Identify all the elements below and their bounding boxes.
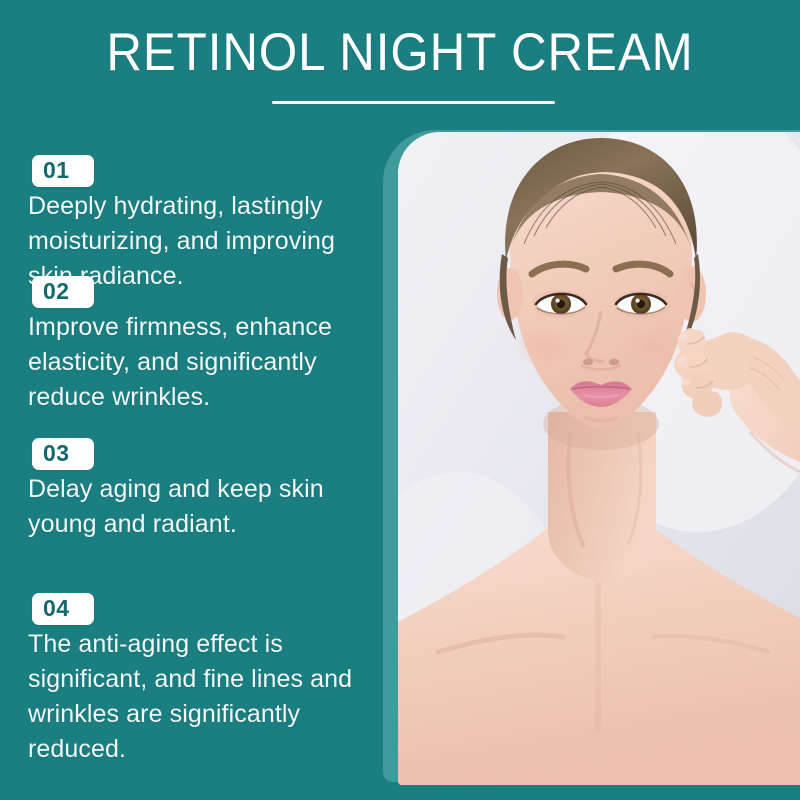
page-title: RETINOL NIGHT CREAM — [28, 23, 772, 83]
feature-text-02: Improve firmness, enhance elasticity, an… — [28, 310, 373, 415]
feature-text-04: The anti-aging effect is significant, an… — [28, 627, 373, 767]
feature-item-03: 03 Delay aging and keep skin young and r… — [28, 438, 373, 542]
feature-item-02: 02 Improve firmness, enhance elasticity,… — [28, 276, 373, 415]
product-poster: RETINOL NIGHT CREAM 01 Deeply hydrating,… — [0, 0, 800, 800]
feature-number-badge-01: 01 — [32, 155, 94, 187]
feature-number-badge-04: 04 — [32, 593, 94, 625]
feature-item-01: 01 Deeply hydrating, lastingly moisturiz… — [28, 155, 373, 294]
feature-number-badge-03: 03 — [32, 438, 94, 470]
title-divider — [272, 101, 555, 104]
feature-item-04: 04 The anti-aging effect is significant,… — [28, 593, 373, 767]
poster-header: RETINOL NIGHT CREAM — [0, 0, 800, 132]
feature-text-03: Delay aging and keep skin young and radi… — [28, 472, 373, 542]
feature-number-badge-02: 02 — [32, 276, 94, 308]
model-photo — [398, 132, 800, 785]
feature-list: 01 Deeply hydrating, lastingly moisturiz… — [0, 132, 395, 800]
